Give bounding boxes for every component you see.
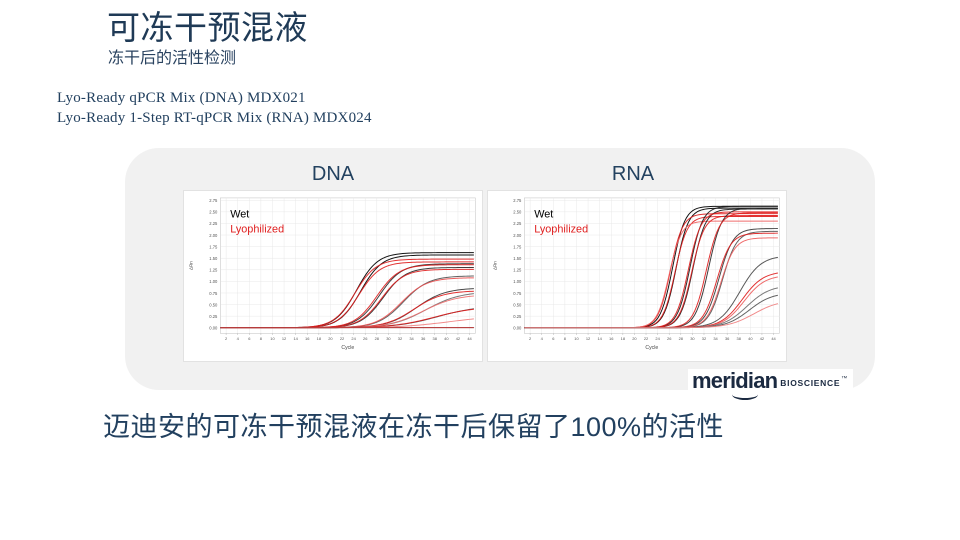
chart-panel-dna: 0.000.250.500.751.001.251.501.752.002.25…	[183, 190, 483, 362]
page-subtitle: 冻干后的活性检测	[108, 48, 236, 70]
svg-text:40: 40	[444, 336, 449, 341]
svg-text:0.00: 0.00	[513, 326, 522, 331]
svg-text:0.75: 0.75	[513, 291, 522, 296]
page-title: 可冻干预混液	[107, 8, 308, 48]
svg-text:1.25: 1.25	[513, 268, 522, 273]
svg-text:2.00: 2.00	[513, 233, 522, 238]
svg-text:16: 16	[609, 336, 614, 341]
product-line-rna: Lyo-Ready 1-Step RT-qPCR Mix (RNA) MDX02…	[57, 108, 372, 128]
svg-text:40: 40	[748, 336, 753, 341]
figure-card: DNA RNA 0.000.250.500.751.001.251.501.75…	[125, 148, 875, 390]
svg-text:ΔRn: ΔRn	[189, 261, 194, 270]
svg-text:8: 8	[260, 336, 263, 341]
svg-text:4: 4	[237, 336, 240, 341]
chart-heading-dna: DNA	[183, 163, 483, 186]
svg-text:Lyophilized: Lyophilized	[230, 224, 284, 236]
chart-heading-rna: RNA	[483, 163, 783, 186]
svg-text:18: 18	[317, 336, 322, 341]
svg-text:Wet: Wet	[534, 209, 553, 221]
svg-text:42: 42	[456, 336, 460, 341]
svg-text:14: 14	[293, 336, 298, 341]
svg-text:2: 2	[225, 336, 227, 341]
svg-text:2.75: 2.75	[513, 198, 522, 203]
svg-text:Lyophilized: Lyophilized	[534, 224, 588, 236]
svg-text:2.00: 2.00	[209, 233, 218, 238]
svg-text:4: 4	[541, 336, 544, 341]
svg-text:44: 44	[771, 336, 776, 341]
svg-text:32: 32	[398, 336, 402, 341]
svg-text:1.75: 1.75	[209, 244, 218, 249]
svg-text:36: 36	[725, 336, 730, 341]
svg-text:22: 22	[644, 336, 648, 341]
svg-text:1.00: 1.00	[513, 279, 522, 284]
svg-text:0.00: 0.00	[209, 326, 218, 331]
product-line-dna: Lyo-Ready qPCR Mix (DNA) MDX021	[57, 88, 372, 108]
svg-text:2.25: 2.25	[209, 221, 218, 226]
svg-text:36: 36	[421, 336, 426, 341]
svg-text:24: 24	[655, 336, 660, 341]
chart-panel-rna: 0.000.250.500.751.001.251.501.752.002.25…	[487, 190, 787, 362]
trademark-symbol: ™	[841, 376, 847, 382]
svg-text:2: 2	[529, 336, 531, 341]
svg-text:2.50: 2.50	[209, 210, 218, 215]
svg-text:12: 12	[586, 336, 590, 341]
svg-text:Cycle: Cycle	[645, 345, 658, 351]
svg-text:0.25: 0.25	[513, 314, 522, 319]
svg-text:38: 38	[433, 336, 438, 341]
svg-text:22: 22	[340, 336, 344, 341]
slide-caption: 迈迪安的可冻干预混液在冻干后保留了100%的活性	[103, 408, 724, 446]
svg-text:10: 10	[270, 336, 275, 341]
svg-text:1.50: 1.50	[513, 256, 522, 261]
svg-text:8: 8	[564, 336, 567, 341]
svg-text:1.00: 1.00	[209, 279, 218, 284]
svg-text:0.50: 0.50	[209, 302, 218, 307]
svg-text:Wet: Wet	[230, 209, 249, 221]
svg-text:2.75: 2.75	[209, 198, 218, 203]
svg-text:10: 10	[574, 336, 579, 341]
svg-text:28: 28	[375, 336, 380, 341]
svg-text:20: 20	[328, 336, 333, 341]
svg-text:0.25: 0.25	[209, 314, 218, 319]
svg-text:38: 38	[737, 336, 742, 341]
svg-text:20: 20	[632, 336, 637, 341]
svg-text:6: 6	[248, 336, 251, 341]
svg-text:26: 26	[363, 336, 368, 341]
svg-text:1.50: 1.50	[209, 256, 218, 261]
svg-text:14: 14	[597, 336, 602, 341]
svg-text:34: 34	[409, 336, 414, 341]
svg-text:1.25: 1.25	[209, 268, 218, 273]
logo-wordmark: meridian	[692, 371, 777, 391]
product-list: Lyo-Ready qPCR Mix (DNA) MDX021 Lyo-Read…	[57, 88, 372, 128]
svg-text:ΔRn: ΔRn	[493, 261, 498, 270]
amplification-plot-dna: 0.000.250.500.751.001.251.501.752.002.25…	[184, 191, 482, 361]
svg-text:30: 30	[386, 336, 391, 341]
svg-text:24: 24	[351, 336, 356, 341]
svg-text:0.75: 0.75	[209, 291, 218, 296]
svg-text:2.25: 2.25	[513, 221, 522, 226]
logo-subtext: BIOSCIENCE	[780, 378, 840, 388]
svg-text:18: 18	[621, 336, 626, 341]
logo-smile-icon	[732, 389, 758, 400]
svg-text:2.50: 2.50	[513, 210, 522, 215]
svg-text:0.50: 0.50	[513, 302, 522, 307]
svg-text:34: 34	[713, 336, 718, 341]
svg-text:32: 32	[702, 336, 706, 341]
svg-text:6: 6	[552, 336, 555, 341]
svg-text:44: 44	[467, 336, 472, 341]
amplification-plot-rna: 0.000.250.500.751.001.251.501.752.002.25…	[488, 191, 786, 361]
svg-text:12: 12	[282, 336, 286, 341]
svg-text:42: 42	[760, 336, 764, 341]
svg-text:Cycle: Cycle	[341, 345, 354, 351]
svg-text:30: 30	[690, 336, 695, 341]
meridian-logo: meridian BIOSCIENCE ™	[688, 369, 853, 394]
svg-text:16: 16	[305, 336, 310, 341]
svg-text:28: 28	[679, 336, 684, 341]
svg-text:1.75: 1.75	[513, 244, 522, 249]
svg-text:26: 26	[667, 336, 672, 341]
